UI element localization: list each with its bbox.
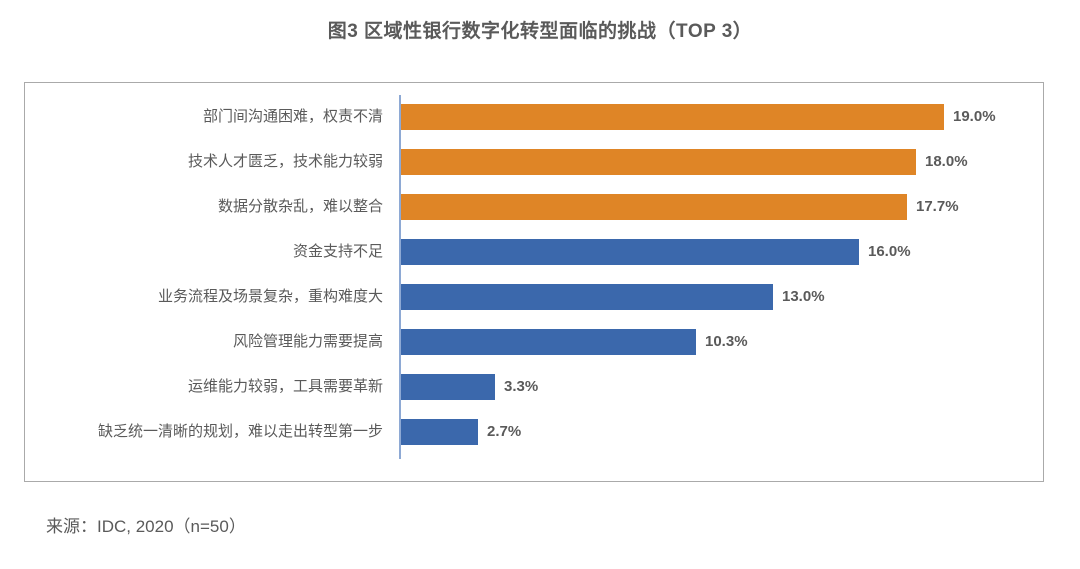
bar: [401, 194, 907, 220]
bar: [401, 149, 916, 175]
chart-row: 风险管理能力需要提高10.3%: [25, 329, 1043, 355]
bar: [401, 104, 944, 130]
chart-row: 资金支持不足16.0%: [25, 239, 1043, 265]
chart-row: 数据分散杂乱，难以整合17.7%: [25, 194, 1043, 220]
category-label: 业务流程及场景复杂，重构难度大: [25, 284, 391, 310]
category-label: 数据分散杂乱，难以整合: [25, 194, 391, 220]
bar-value-label: 16.0%: [859, 239, 911, 265]
category-label: 部门间沟通困难，权责不清: [25, 104, 391, 130]
category-label: 运维能力较弱，工具需要革新: [25, 374, 391, 400]
category-label: 缺乏统一清晰的规划，难以走出转型第一步: [25, 419, 391, 445]
chart-page: 图3 区域性银行数字化转型面临的挑战（TOP 3） 部门间沟通困难，权责不清19…: [0, 0, 1080, 569]
bar-value-label: 18.0%: [916, 149, 968, 175]
chart-row: 缺乏统一清晰的规划，难以走出转型第一步2.7%: [25, 419, 1043, 445]
plot-area: 部门间沟通困难，权责不清19.0%技术人才匮乏，技术能力较弱18.0%数据分散杂…: [25, 83, 1043, 481]
category-label: 资金支持不足: [25, 239, 391, 265]
category-label: 技术人才匮乏，技术能力较弱: [25, 149, 391, 175]
chart-row: 运维能力较弱，工具需要革新3.3%: [25, 374, 1043, 400]
chart-frame: 部门间沟通困难，权责不清19.0%技术人才匮乏，技术能力较弱18.0%数据分散杂…: [24, 82, 1044, 482]
bar-value-label: 19.0%: [944, 104, 996, 130]
source-note: 来源：IDC, 2020（n=50）: [46, 512, 246, 537]
bar-value-label: 3.3%: [495, 374, 538, 400]
category-label: 风险管理能力需要提高: [25, 329, 391, 355]
bar: [401, 329, 696, 355]
bar-value-label: 17.7%: [907, 194, 959, 220]
bar: [401, 284, 773, 310]
bar-value-label: 10.3%: [696, 329, 748, 355]
chart-row: 部门间沟通困难，权责不清19.0%: [25, 104, 1043, 130]
page-title: 图3 区域性银行数字化转型面临的挑战（TOP 3）: [0, 16, 1080, 43]
bar-value-label: 2.7%: [478, 419, 521, 445]
bar: [401, 374, 495, 400]
bar: [401, 239, 859, 265]
chart-row: 技术人才匮乏，技术能力较弱18.0%: [25, 149, 1043, 175]
bar-value-label: 13.0%: [773, 284, 825, 310]
chart-row: 业务流程及场景复杂，重构难度大13.0%: [25, 284, 1043, 310]
bar: [401, 419, 478, 445]
